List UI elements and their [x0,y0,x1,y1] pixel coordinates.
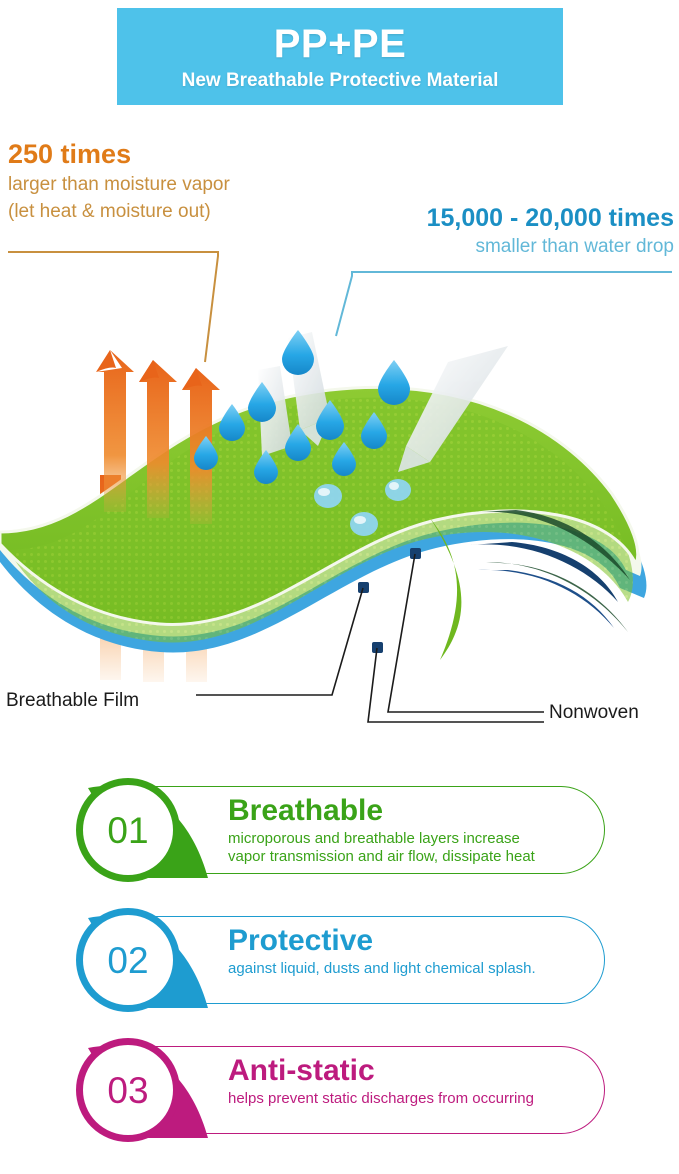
card-text-block: Breathable microporous and breathable la… [228,796,587,867]
feature-card-anti-static[interactable]: 03 Anti-static helps prevent static disc… [0,1032,679,1148]
water-drop-icon [378,360,410,405]
card-title: Breathable [228,796,587,826]
card-title: Protective [228,926,587,956]
card-number-badge: 01 [76,778,180,882]
card-title: Anti-static [228,1056,587,1086]
card-number-badge: 02 [76,908,180,1012]
callout-left: 250 times larger than moisture vapor (le… [8,140,328,224]
card-text-block: Protective against liquid, dusts and lig… [228,926,587,978]
callout-left-line2: (let heat & moisture out) [8,199,328,224]
feature-card-list: 01 Breathable microporous and breathable… [0,772,679,1162]
card-number: 01 [107,812,148,849]
label-breathable-film: Breathable Film [6,690,139,712]
card-description: microporous and breathable layers increa… [228,830,587,867]
card-description: helps prevent static discharges from occ… [228,1090,587,1108]
card-text-block: Anti-static helps prevent static dischar… [228,1056,587,1108]
card-description: against liquid, dusts and light chemical… [228,960,587,978]
card-number: 03 [107,1072,148,1109]
label-nonwoven: Nonwoven [549,702,639,724]
callout-left-headline: 250 times [8,140,328,170]
page-title: PP+PE [274,24,407,64]
header-banner: PP+PE New Breathable Protective Material [117,8,563,105]
fabric-cross-section-illustration [0,250,679,730]
card-description-line-2: vapor transmission and air flow, dissipa… [228,848,587,866]
card-description-line-1: helps prevent static discharges from occ… [228,1090,587,1108]
card-number-badge: 03 [76,1038,180,1142]
feature-card-breathable[interactable]: 01 Breathable microporous and breathable… [0,772,679,888]
feature-card-protective[interactable]: 02 Protective against liquid, dusts and … [0,902,679,1018]
card-description-line-1: microporous and breathable layers increa… [228,830,587,848]
card-description-line-1: against liquid, dusts and light chemical… [228,960,587,978]
callout-leader-blue [336,272,672,336]
callout-right-headline: 15,000 - 20,000 times [352,205,674,233]
callout-leader-orange [8,252,218,362]
callout-left-line1: larger than moisture vapor [8,172,328,197]
page-subtitle: New Breathable Protective Material [182,71,499,90]
heat-arrow-heads [96,350,220,524]
card-number: 02 [107,942,148,979]
